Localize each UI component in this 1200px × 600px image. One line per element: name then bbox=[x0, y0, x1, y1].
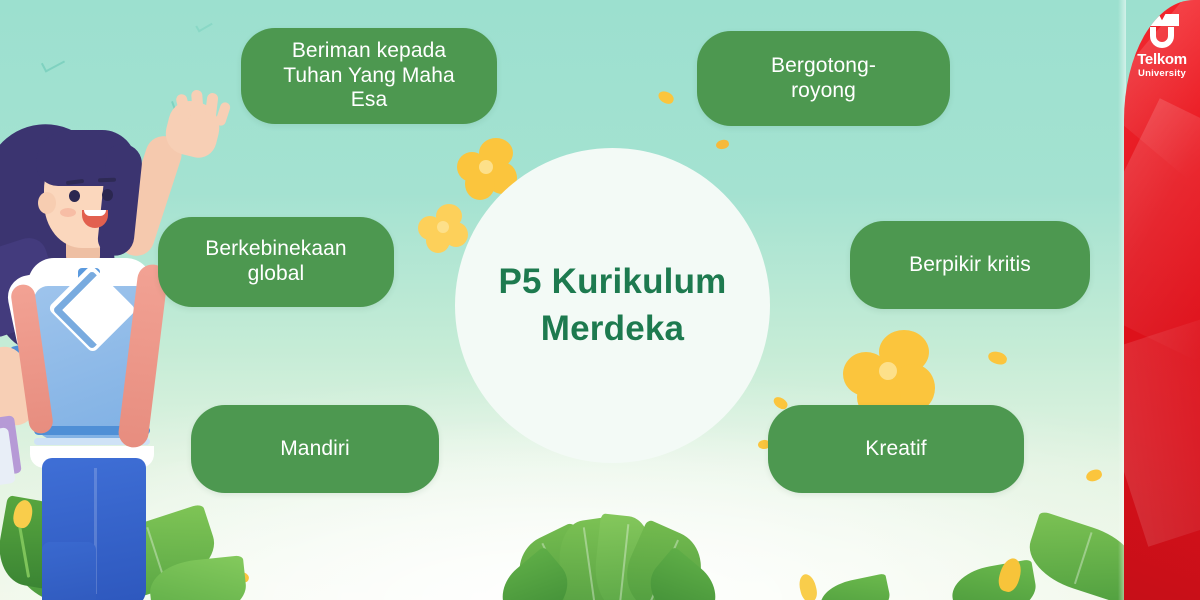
node-label: Berpikir kritis bbox=[909, 253, 1031, 278]
telkom-u-mark-icon bbox=[1145, 14, 1179, 48]
character-cheek bbox=[60, 208, 76, 217]
character-eye bbox=[69, 190, 80, 202]
flower-decor bbox=[418, 204, 470, 254]
logo-u-shape bbox=[1150, 27, 1174, 48]
center-topic-node[interactable]: P5 Kurikulum Merdeka bbox=[455, 148, 770, 463]
character-eyebrow bbox=[98, 178, 116, 183]
node-mandiri[interactable]: Mandiri bbox=[191, 405, 439, 493]
logo-bar-shape bbox=[1145, 14, 1179, 26]
node-beriman-kepada-tuhan-yang-maha-esa[interactable]: Beriman kepada Tuhan Yang Maha Esa bbox=[241, 28, 497, 124]
node-label: Berkebinekaan global bbox=[205, 237, 346, 287]
character-finger bbox=[191, 90, 204, 121]
center-topic-title: P5 Kurikulum Merdeka bbox=[498, 259, 726, 351]
node-kreatif[interactable]: Kreatif bbox=[768, 405, 1024, 493]
node-label: Mandiri bbox=[280, 437, 350, 462]
telkom-university-logo: Telkom University bbox=[1124, 14, 1200, 79]
character-eye bbox=[102, 189, 113, 201]
character-mouth-highlight bbox=[84, 210, 106, 216]
node-label: Bergotong- royong bbox=[771, 54, 876, 104]
slide-canvas: Beriman kepada Tuhan Yang Maha Esa Bergo… bbox=[0, 0, 1200, 600]
node-berkebinekaan-global[interactable]: Berkebinekaan global bbox=[158, 217, 394, 307]
panel-shine-decor bbox=[1124, 313, 1200, 546]
node-label: Beriman kepada Tuhan Yang Maha Esa bbox=[283, 39, 455, 113]
brand-name-secondary: University bbox=[1138, 69, 1186, 79]
character-ear bbox=[38, 192, 56, 214]
panel-shine-decor bbox=[1124, 98, 1200, 361]
brand-name-primary: Telkom bbox=[1137, 52, 1187, 67]
character-trouser-leg bbox=[42, 542, 96, 600]
node-label: Kreatif bbox=[865, 437, 926, 462]
student-illustration bbox=[0, 96, 282, 600]
node-berpikir-kritis[interactable]: Berpikir kritis bbox=[850, 221, 1090, 309]
node-bergotong-royong[interactable]: Bergotong- royong bbox=[697, 31, 950, 126]
brand-panel: Telkom University bbox=[1124, 0, 1200, 600]
